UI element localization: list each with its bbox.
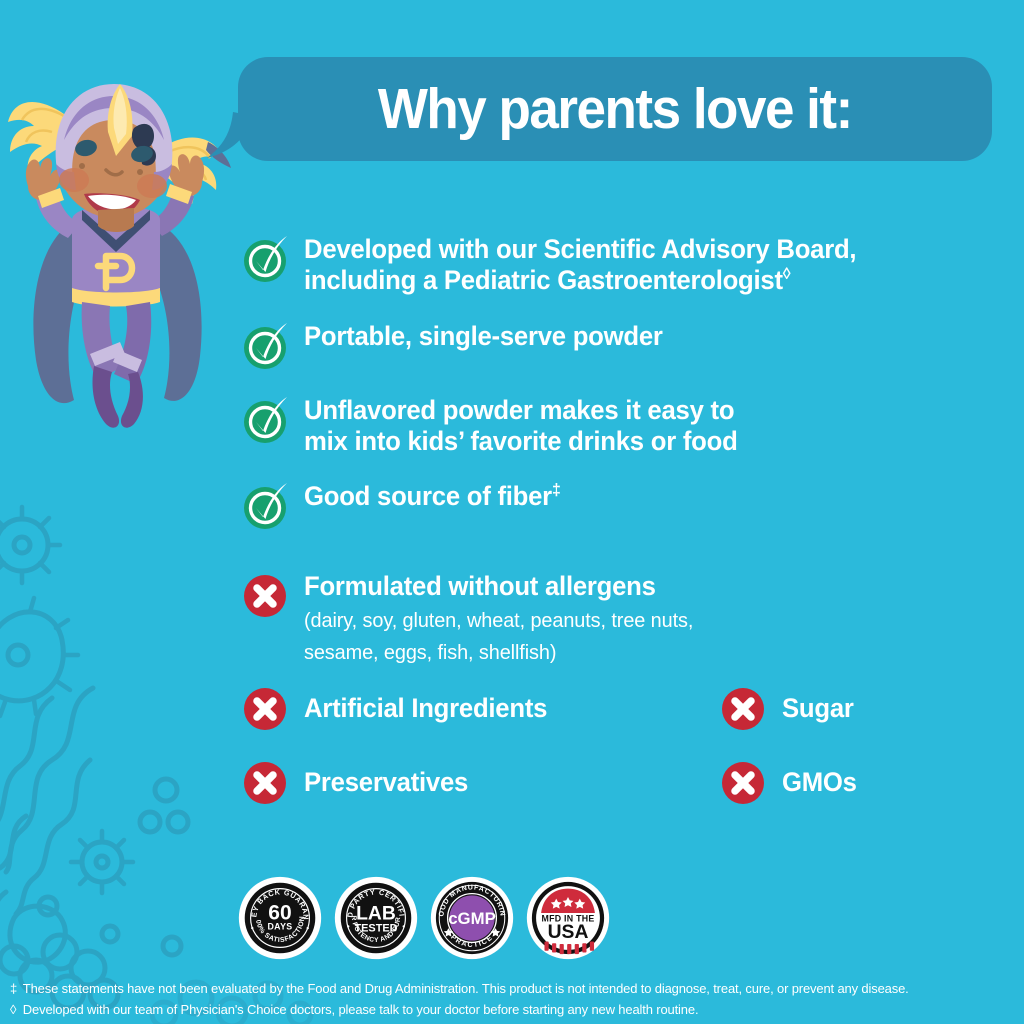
x-circle-icon	[242, 759, 304, 807]
money-back-guarantee-badge: MONEY BACK GUARANTEE 100% SATISFACTION 6…	[238, 876, 322, 960]
list-item: Good source of fiber‡	[242, 479, 1002, 531]
svg-text:cGMP: cGMP	[448, 909, 496, 928]
footnote-marker: ‡	[552, 481, 561, 499]
check-circle-icon	[242, 232, 304, 284]
list-item-allergens: Formulated without allergens (dairy, soy…	[242, 569, 1002, 669]
x-circle-icon	[242, 685, 304, 733]
svg-text:DAYS: DAYS	[267, 922, 292, 932]
list-item-title: Formulated without allergens	[304, 571, 981, 602]
x-circle-icon	[720, 685, 782, 733]
footnote-text: Developed with our team of Physician's C…	[23, 1002, 699, 1017]
check-circle-icon	[242, 479, 304, 531]
list-item: Developed with our Scientific Advisory B…	[242, 232, 1002, 297]
speech-bubble-tail	[207, 112, 253, 158]
free-from-row: Artificial Ingredients Sugar	[242, 685, 1002, 733]
svg-text:TESTED: TESTED	[354, 922, 397, 934]
cgmp-badge: GOOD MANUFACTURING PRACTICE cGMP	[430, 876, 514, 960]
svg-text:USA: USA	[548, 922, 589, 943]
promo-graphic: Why parents love it: Developed with our …	[0, 0, 1024, 1024]
footnote-marker: ‡	[10, 978, 23, 999]
header-speech-bubble: Why parents love it:	[238, 57, 992, 161]
free-from-label: Artificial Ingredients	[304, 693, 547, 724]
free-from-label: Sugar	[782, 693, 854, 724]
benefits-list: Developed with our Scientific Advisory B…	[242, 232, 1002, 821]
list-item: Unflavored powder makes it easy to mix i…	[242, 393, 1002, 458]
list-item-title: Portable, single-serve powder	[304, 321, 981, 352]
list-item-title: Good source of fiber‡	[304, 481, 981, 512]
free-from-label: GMOs	[782, 767, 857, 798]
svg-text:LAB: LAB	[356, 904, 396, 925]
free-from-row: Preservatives GMOs	[242, 759, 1002, 807]
list-item-title: Developed with our Scientific Advisory B…	[304, 234, 981, 297]
footnote-text: These statements have not been evaluated…	[23, 981, 909, 996]
superhero-kid-illustration	[2, 44, 234, 444]
check-circle-icon	[242, 319, 304, 371]
list-item: Portable, single-serve powder	[242, 319, 1002, 371]
footnote-marker: ◊	[10, 999, 23, 1020]
lab-tested-badge: 3RD PARTY CERTIFIED FOR POTENCY AND PURI…	[334, 876, 418, 960]
footnotes: ‡These statements have not been evaluate…	[10, 978, 1014, 1020]
check-circle-icon	[242, 393, 304, 445]
footnote-line: ‡These statements have not been evaluate…	[10, 978, 999, 999]
x-circle-icon	[242, 569, 304, 621]
free-from-label: Preservatives	[304, 767, 468, 798]
certification-badges: MONEY BACK GUARANTEE 100% SATISFACTION 6…	[238, 876, 610, 960]
x-circle-icon	[720, 759, 782, 807]
list-item-subtext: (dairy, soy, gluten, wheat, peanuts, tre…	[304, 605, 981, 669]
footnote-marker: ◊	[783, 265, 791, 283]
footnote-line: ◊Developed with our team of Physician's …	[10, 999, 999, 1020]
page-title: Why parents love it:	[378, 81, 852, 138]
list-item-title: Unflavored powder makes it easy to mix i…	[304, 395, 981, 458]
made-in-usa-badge: MFD IN THE USA	[526, 876, 610, 960]
